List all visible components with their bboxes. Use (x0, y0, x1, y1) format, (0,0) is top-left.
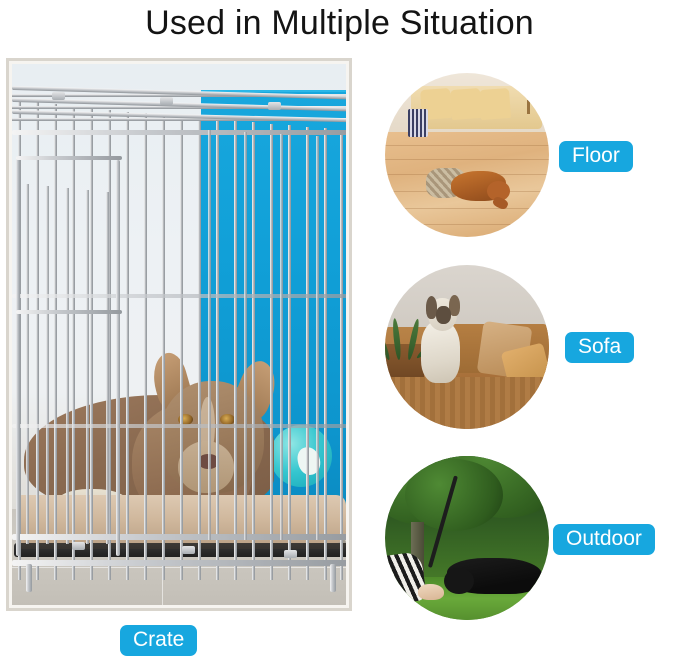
waste-bin (408, 109, 428, 137)
dog-on-sofa-face (436, 306, 451, 324)
situation-photo-outdoor (385, 456, 549, 620)
crate-latch (182, 546, 195, 554)
outdoor-scene (385, 456, 549, 620)
crate-latch (284, 550, 297, 558)
plant (385, 317, 418, 360)
person-hand (418, 584, 444, 600)
sofa-cushion (450, 88, 482, 120)
page-title: Used in Multiple Situation (0, 2, 679, 44)
sofa-cushion (479, 88, 511, 120)
label-floor: Floor (559, 141, 633, 172)
situation-photo-floor (385, 73, 549, 237)
sofa-seat (385, 377, 549, 429)
label-crate: Crate (120, 625, 197, 656)
dog-on-sofa-ear-right (449, 295, 460, 316)
dog-outdoor-head (444, 568, 474, 594)
situation-photo-sofa (385, 265, 549, 429)
tree-foliage (405, 459, 503, 531)
crate-latch (72, 542, 85, 550)
label-outdoor: Outdoor (553, 524, 655, 555)
label-sofa: Sofa (565, 332, 634, 363)
crate-photo (12, 64, 346, 605)
crate-latch (268, 102, 281, 110)
crate-latch (52, 92, 65, 100)
floor-scene (385, 73, 549, 237)
sofa-scene (385, 265, 549, 429)
crate-latch (160, 97, 173, 105)
crate-photo-frame (6, 58, 352, 611)
